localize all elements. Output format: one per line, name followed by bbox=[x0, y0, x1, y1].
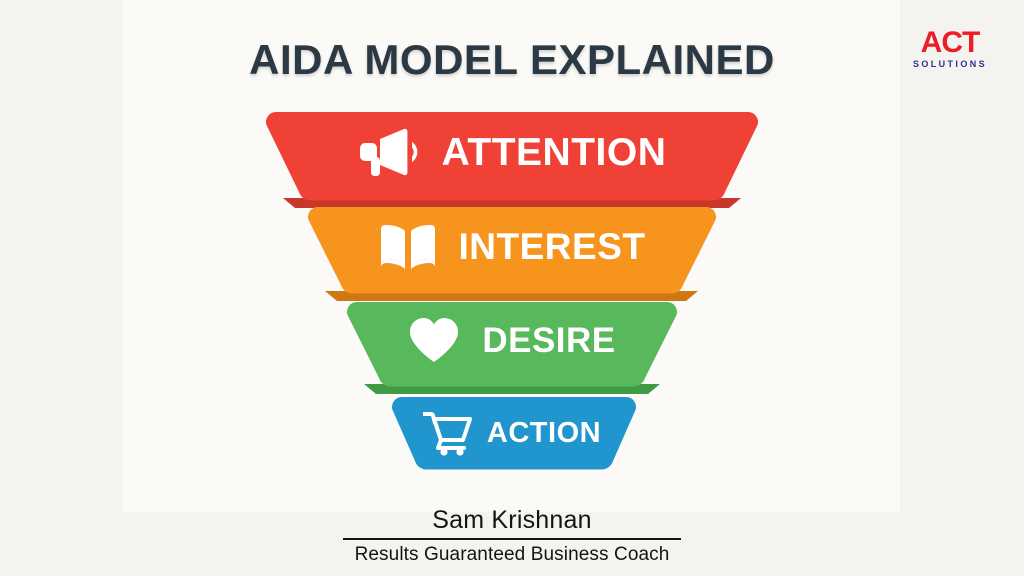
stage-label-interest: INTEREST bbox=[459, 228, 646, 265]
stage-label-attention: ATTENTION bbox=[442, 133, 667, 172]
stage-content-desire: DESIRE bbox=[0, 300, 1024, 380]
shopping-cart-icon bbox=[423, 410, 473, 456]
stage-label-action: ACTION bbox=[487, 419, 601, 448]
funnel-stage-attention[interactable]: ATTENTION bbox=[0, 110, 1024, 210]
slide-canvas: AIDA MODEL EXPLAINED ACT SOLUTIONS bbox=[0, 0, 1024, 576]
presenter-name: Sam Krishnan bbox=[0, 506, 1024, 535]
stage-label-desire: DESIRE bbox=[482, 323, 615, 358]
footer-divider bbox=[343, 538, 681, 540]
funnel-stage-interest[interactable]: INTEREST bbox=[0, 205, 1024, 303]
funnel-stage-action[interactable]: ACTION bbox=[0, 395, 1024, 477]
funnel-stage-desire[interactable]: DESIRE bbox=[0, 300, 1024, 396]
logo-primary-text: ACT bbox=[900, 28, 1000, 58]
megaphone-icon bbox=[358, 126, 420, 178]
footer: Sam Krishnan Results Guaranteed Business… bbox=[0, 506, 1024, 566]
stage-content-interest: INTEREST bbox=[0, 205, 1024, 287]
heart-icon bbox=[408, 316, 460, 364]
brand-logo: ACT SOLUTIONS bbox=[900, 28, 1000, 69]
logo-secondary-text: SOLUTIONS bbox=[900, 60, 1000, 69]
page-title: AIDA MODEL EXPLAINED bbox=[0, 36, 1024, 84]
aida-funnel-diagram: ATTENTION INTERE bbox=[0, 110, 1024, 475]
stage-content-attention: ATTENTION bbox=[0, 110, 1024, 194]
open-book-icon bbox=[379, 221, 437, 271]
presenter-tagline: Results Guaranteed Business Coach bbox=[0, 544, 1024, 566]
stage-content-action: ACTION bbox=[0, 395, 1024, 471]
